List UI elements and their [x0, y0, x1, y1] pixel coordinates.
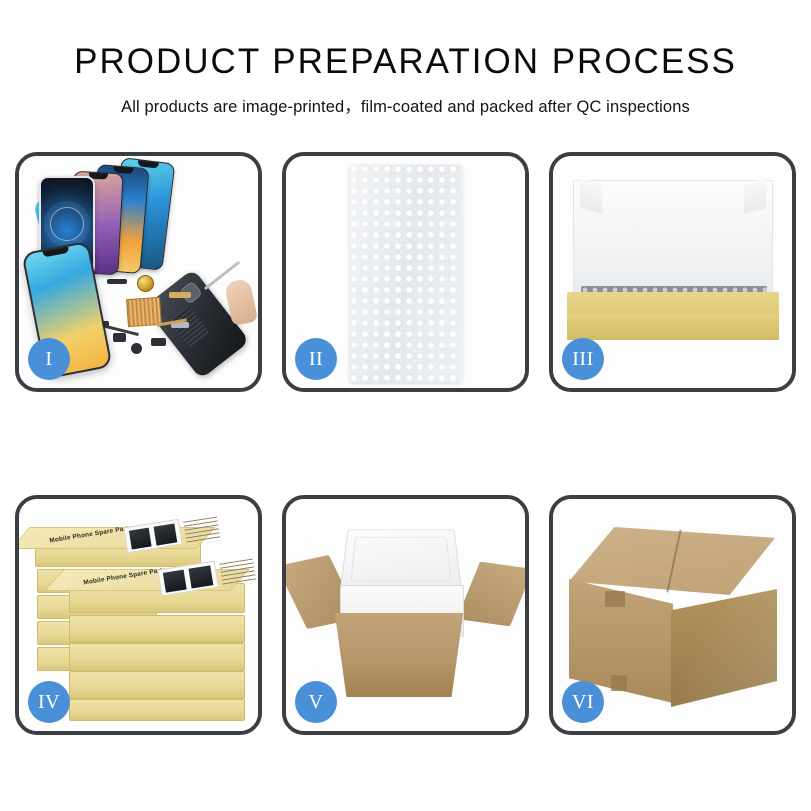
kraft-box — [69, 615, 245, 643]
step-panel-3[interactable]: III — [549, 152, 796, 392]
notch-icon — [57, 178, 78, 184]
chip-part-icon — [151, 338, 166, 346]
header: PRODUCT PREPARATION PROCESS All products… — [0, 0, 811, 117]
carton-body-icon — [326, 613, 472, 697]
lid-flap-left-icon — [580, 178, 602, 214]
lid-flap-right-icon — [744, 178, 766, 214]
page-title: PRODUCT PREPARATION PROCESS — [0, 44, 811, 81]
step-panel-4[interactable]: Mobile Phone Spare Parts Mobile Phone Sp… — [15, 495, 262, 735]
carton-right-face — [671, 589, 777, 707]
kraft-box-base-icon — [567, 292, 779, 340]
carton-tape-icon — [605, 591, 625, 607]
step-badge-1: I — [28, 338, 70, 380]
chip-part-icon — [131, 343, 142, 354]
step-badge-2: II — [295, 338, 337, 380]
foam-lid-icon — [340, 529, 462, 590]
carton-flap-right-icon — [457, 562, 525, 627]
step-panel-5[interactable]: V — [282, 495, 529, 735]
carton-tape-icon — [611, 675, 627, 691]
screen-photo-icon — [163, 570, 187, 593]
chip-part-icon — [113, 333, 126, 342]
step-badge-5: V — [295, 681, 337, 723]
crack-pattern-icon — [50, 207, 84, 241]
product-preparation-infographic: PRODUCT PREPARATION PROCESS All products… — [0, 0, 811, 811]
step-panel-6[interactable]: VI — [549, 495, 796, 735]
step-badge-4: IV — [28, 681, 70, 723]
screen-photo-icon — [129, 528, 152, 550]
box-stack-group: Mobile Phone Spare Parts Mobile Phone Sp… — [35, 517, 247, 717]
kraft-box — [69, 643, 245, 671]
box-front-face — [567, 314, 779, 340]
step-badge-3: III — [562, 338, 604, 380]
screen-photo-icon — [154, 524, 178, 546]
chip-part-icon — [107, 279, 127, 284]
page-subtitle: All products are image-printed，film-coat… — [0, 93, 811, 117]
kraft-box-printed — [69, 583, 245, 613]
kraft-box — [69, 671, 245, 699]
step-badge-6: VI — [562, 681, 604, 723]
box-spec-lines — [183, 516, 220, 545]
kraft-box — [69, 699, 245, 721]
box-spec-lines — [219, 558, 256, 587]
notch-icon — [43, 247, 69, 258]
step-panel-1[interactable]: I — [15, 152, 262, 392]
step-panel-2[interactable]: II — [282, 152, 529, 392]
steps-grid: I II — [15, 152, 796, 735]
bubble-wrap-bag-icon — [350, 165, 462, 383]
gold-component-icon — [137, 275, 154, 292]
screen-photo-icon — [188, 565, 213, 588]
chip-part-icon — [169, 292, 191, 298]
